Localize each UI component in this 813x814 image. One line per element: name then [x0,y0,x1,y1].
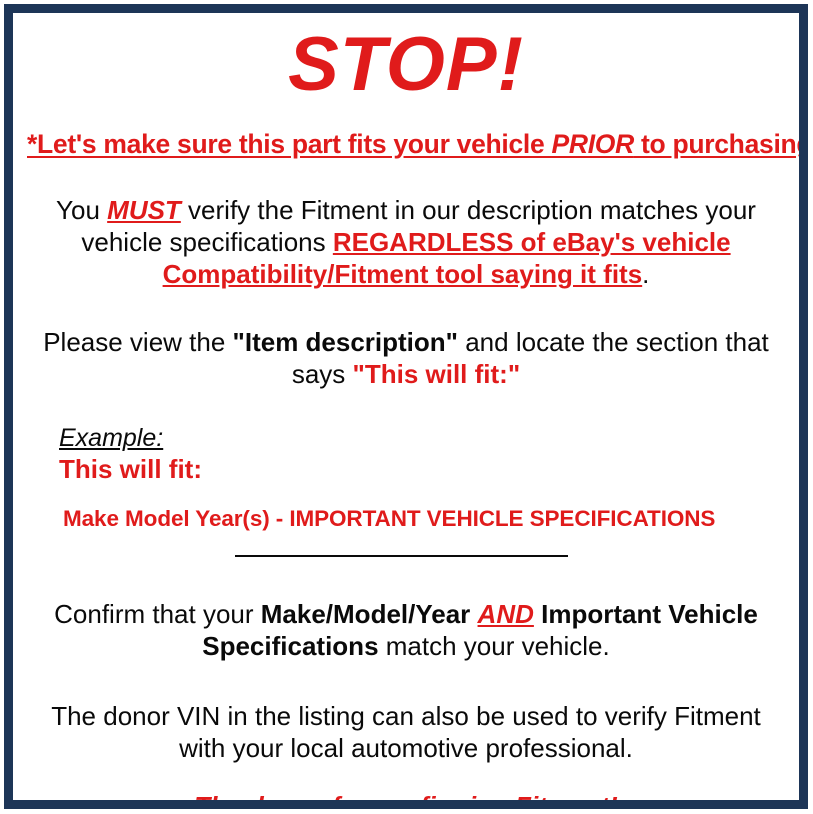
confirm-seg-1: Confirm that your [54,599,261,629]
subtitle-suffix: to purchasing* [634,129,808,159]
view-this-will-fit-emphasis: "This will fit:" [353,359,521,389]
subtitle-prior-emphasis: PRIOR [551,129,633,159]
example-vehicle-spec-line: Make Model Year(s) - IMPORTANT VEHICLE S… [59,507,785,532]
view-item-description-emphasis: "Item description" [233,327,458,357]
paragraph-donor-vin: The donor VIN in the listing can also be… [27,701,785,765]
confirm-and-emphasis: AND [478,599,534,629]
stop-title: STOP! [27,27,785,103]
fitment-notice-frame: STOP! *Let's make sure this part fits yo… [4,4,808,809]
divider-line [235,555,568,557]
example-block: Example: This will fit: Make Model Year(… [27,425,785,531]
divider [27,555,785,569]
view-seg-1: Please view the [43,327,232,357]
paragraph-view-item-description: Please view the "Item description" and l… [27,327,785,391]
subtitle-banner: *Let's make sure this part fits your veh… [27,129,785,159]
confirm-space-1 [470,599,477,629]
fitment-notice-card: STOP! *Let's make sure this part fits yo… [0,0,813,814]
paragraph-verify-fitment: You MUST verify the Fitment in our descr… [27,195,785,291]
subtitle-prefix: *Let's make sure this part fits your veh… [27,129,551,159]
example-this-will-fit-heading: This will fit: [59,455,785,485]
example-label: Example: [59,425,163,453]
confirm-seg-5: match your vehicle. [379,631,610,661]
verify-seg-1: You [56,195,107,225]
thank-you-line: Thank you for confirming Fitment! [27,791,785,809]
paragraph-confirm-match: Confirm that your Make/Model/Year AND Im… [27,599,785,663]
confirm-make-model-year-emphasis: Make/Model/Year [261,599,471,629]
verify-seg-5: . [642,259,649,289]
verify-must-emphasis: MUST [107,195,181,225]
